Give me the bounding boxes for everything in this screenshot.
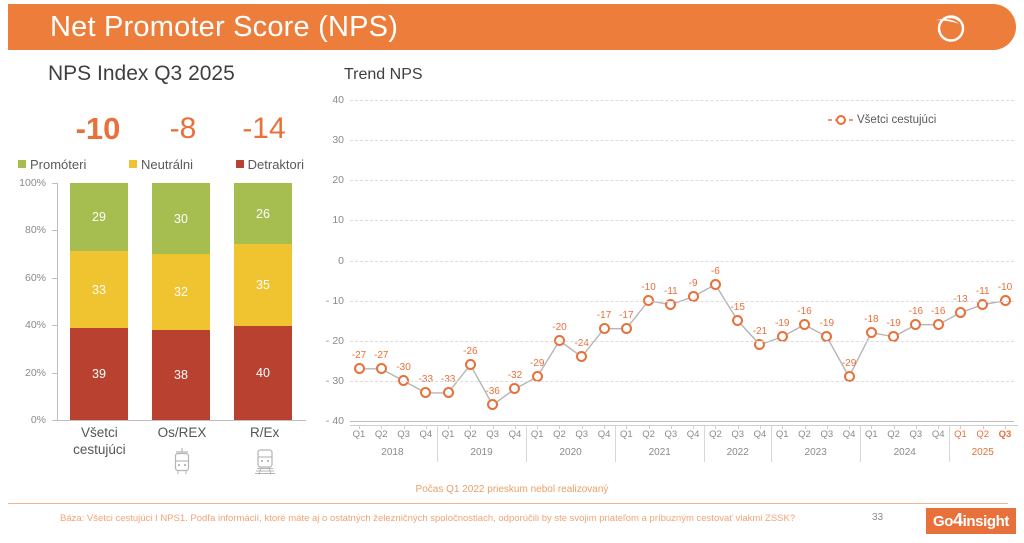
trend-x-quarter-label: Q4 [509, 429, 522, 440]
trend-year-separator [526, 426, 527, 462]
trend-year-separator [949, 426, 950, 462]
stacked-bar-segment[interactable]: 39 [70, 328, 128, 420]
trend-x-quarter-label: Q3 [999, 429, 1012, 440]
trend-x-quarter-label: Q3 [820, 429, 833, 440]
trend-data-point[interactable] [354, 363, 365, 374]
trend-y-tick-label: 10 [318, 214, 344, 226]
legend-label-neutrals: Neutrálni [141, 157, 193, 172]
bar-y-tick-label: 20% [25, 367, 46, 379]
nps-breakdown-stacked-chart: 100%80%60%40%20%0% 293339303238263540 [14, 183, 306, 421]
trend-data-label: -10 [641, 282, 655, 293]
trend-data-label: -17 [619, 310, 633, 321]
stacked-bar-segment[interactable]: 35 [234, 244, 292, 326]
legend-label-detractors: Detraktori [248, 157, 304, 172]
trend-y-tick-label: - 40 [318, 415, 344, 427]
legend-swatch-detractors [236, 160, 244, 168]
bar-y-tick-mark [52, 230, 57, 231]
trend-y-tick-label: 30 [318, 134, 344, 146]
trend-x-tick-mark [559, 425, 560, 429]
trend-data-point[interactable] [621, 323, 632, 334]
bar-category-label-rex: R/Ex [225, 424, 305, 441]
trend-y-tick-label: - 20 [318, 335, 344, 347]
trend-data-point[interactable] [710, 279, 721, 290]
trend-year-separator [615, 426, 616, 462]
legend-swatch-promoters [18, 160, 26, 168]
trend-x-tick-mark [537, 425, 538, 429]
trend-data-label: -27 [374, 350, 388, 361]
stacked-bar-column[interactable]: 263540 [234, 183, 292, 420]
trend-x-tick-mark [359, 425, 360, 429]
trend-data-label: -26 [463, 346, 477, 357]
trend-x-tick-mark [827, 425, 828, 429]
trend-data-point[interactable] [866, 327, 877, 338]
bar-y-tick-label: 80% [25, 224, 46, 236]
bar-chart-legend: Promóteri Neutrálni Detraktori [18, 155, 304, 173]
trend-data-label: -11 [664, 286, 678, 297]
trend-gridline [350, 421, 1014, 422]
bar-category-rex: R/Ex [225, 424, 305, 508]
trend-data-label: -36 [485, 386, 499, 397]
bar-y-tick-label: 100% [19, 177, 46, 189]
trend-x-quarter-label: Q4 [932, 429, 945, 440]
bar-y-tick-mark [52, 373, 57, 374]
trend-x-quarter-label: Q1 [865, 429, 878, 440]
trend-x-quarter-label: Q2 [798, 429, 811, 440]
trend-data-point[interactable] [443, 387, 454, 398]
legend-item-neutrals: Neutrálni [129, 157, 193, 172]
trend-data-label: -33 [419, 374, 433, 385]
trend-x-tick-mark [738, 425, 739, 429]
trend-x-tick-mark [448, 425, 449, 429]
trend-x-year-label: 2024 [894, 447, 916, 458]
trend-x-tick-mark [671, 425, 672, 429]
bar-category-all: Všetci cestujúci [59, 424, 139, 508]
trend-x-tick-mark [626, 425, 627, 429]
trend-x-quarter-label: Q3 [486, 429, 499, 440]
trend-gridline [350, 220, 1014, 221]
trend-x-quarter-label: Q2 [375, 429, 388, 440]
trend-data-label: -33 [441, 374, 455, 385]
trend-gridline [350, 100, 1014, 101]
trend-data-label: -29 [530, 358, 544, 369]
trend-data-label: -21 [753, 326, 767, 337]
trend-data-label: -27 [352, 350, 366, 361]
trend-x-quarter-label: Q4 [598, 429, 611, 440]
trend-x-quarter-label: Q3 [910, 429, 923, 440]
page-number: 33 [872, 512, 883, 523]
trend-data-label: -32 [508, 370, 522, 381]
trend-data-label: -17 [597, 310, 611, 321]
bar-chart-plot-area: 293339303238263540 [58, 183, 304, 420]
trend-data-label: -19 [820, 318, 834, 329]
trend-y-tick-label: - 30 [318, 375, 344, 387]
page-header: Net Promoter Score (NPS) [8, 4, 1016, 50]
nps-trend-chart: Všetci cestujúci -27-27-30-33-33-26-36-3… [318, 88, 1018, 433]
trend-x-year-label: 2019 [470, 447, 492, 458]
trend-x-tick-mark [849, 425, 850, 429]
trend-data-label: -20 [552, 322, 566, 333]
trend-x-year-label: 2023 [805, 447, 827, 458]
trend-x-quarter-label: Q3 [665, 429, 678, 440]
trend-x-tick-mark [404, 425, 405, 429]
trend-x-quarter-label: Q1 [442, 429, 455, 440]
trend-y-tick-label: 0 [318, 255, 344, 267]
trend-x-quarter-label: Q2 [642, 429, 655, 440]
logo-suffix: insight [963, 513, 1009, 530]
trend-x-quarter-label: Q1 [531, 429, 544, 440]
bar-y-tick-label: 40% [25, 319, 46, 331]
logo-prefix: Go [933, 513, 953, 530]
trend-chart-title: Trend NPS [344, 66, 423, 84]
trend-x-quarter-label: Q4 [754, 429, 767, 440]
trend-data-label: -15 [730, 302, 744, 313]
left-chart-title: NPS Index Q3 2025 [48, 62, 235, 86]
footer-divider [8, 503, 1008, 504]
trend-x-axis-line [350, 425, 1018, 426]
trend-x-year-label: 2021 [649, 447, 671, 458]
trend-x-quarter-label: Q2 [464, 429, 477, 440]
trend-data-label: -11 [976, 286, 990, 297]
trend-year-separator [860, 426, 861, 462]
trend-x-tick-mark [470, 425, 471, 429]
trend-data-label: -13 [953, 294, 967, 305]
stacked-bar-segment[interactable]: 38 [152, 330, 210, 420]
stacked-bar-segment[interactable]: 30 [152, 183, 210, 254]
trend-x-quarter-label: Q4 [687, 429, 700, 440]
bar-y-tick-label: 0% [31, 414, 46, 426]
page-title: Net Promoter Score (NPS) [50, 11, 398, 44]
trend-x-quarter-label: Q4 [843, 429, 856, 440]
trend-x-tick-mark [760, 425, 761, 429]
trend-y-tick-label: 40 [318, 94, 344, 106]
trend-data-label: -6 [711, 266, 720, 277]
trend-data-label: -29 [842, 358, 856, 369]
trend-data-label: -10 [998, 282, 1012, 293]
trend-x-tick-mark [515, 425, 516, 429]
trend-x-tick-mark [649, 425, 650, 429]
go4insight-circle-logo-icon [934, 10, 968, 44]
bar-category-osrex: Os/REX [142, 424, 222, 508]
trend-x-year-label: 2020 [559, 447, 581, 458]
nps-index-values: -10 -8 -14 [22, 110, 302, 148]
trend-x-quarter-label: Q4 [419, 429, 432, 440]
trend-x-tick-mark [604, 425, 605, 429]
trend-data-label: -19 [775, 318, 789, 329]
trend-x-tick-mark [805, 425, 806, 429]
trend-y-tick-label: 20 [318, 174, 344, 186]
trend-x-quarter-label: Q2 [553, 429, 566, 440]
bar-category-label-all: Všetci cestujúci [59, 424, 139, 458]
legend-item-detractors: Detraktori [236, 157, 304, 172]
trend-x-quarter-label: Q2 [976, 429, 989, 440]
trend-data-label: -16 [909, 306, 923, 317]
bar-y-tick-mark [52, 278, 57, 279]
stacked-bar-column[interactable]: 303238 [152, 183, 210, 420]
trend-x-quarter-label: Q2 [709, 429, 722, 440]
trend-x-quarter-label: Q3 [731, 429, 744, 440]
bar-y-tick-label: 60% [25, 272, 46, 284]
bar-chart-category-labels: Všetci cestujúci Os/REX R/Ex [58, 424, 306, 508]
tram-icon [142, 447, 222, 477]
trend-gridline [350, 301, 1014, 302]
trend-year-separator [704, 426, 705, 462]
trend-gridline [350, 140, 1014, 141]
trend-data-label: -30 [396, 362, 410, 373]
trend-x-quarter-label: Q2 [887, 429, 900, 440]
trend-x-tick-mark [693, 425, 694, 429]
nps-index-value-osrex: -8 [150, 110, 216, 148]
bar-chart-y-axis: 100%80%60%40%20%0% [14, 183, 52, 421]
stacked-bar-column[interactable]: 293339 [70, 183, 128, 420]
trend-year-separator [437, 426, 438, 462]
stacked-bar-segment[interactable]: 32 [152, 254, 210, 330]
logo-digit: 4 [953, 510, 963, 530]
trend-y-tick-label: - 10 [318, 295, 344, 307]
bar-category-label-osrex: Os/REX [142, 424, 222, 441]
stacked-bar-segment[interactable]: 40 [234, 326, 292, 420]
trend-x-tick-mark [916, 425, 917, 429]
trend-data-label: -18 [864, 314, 878, 325]
trend-x-tick-mark [381, 425, 382, 429]
train-icon [225, 447, 305, 477]
chart-footnote: Počas Q1 2022 prieskum nebol realizovaný [0, 484, 1024, 495]
trend-x-tick-mark [894, 425, 895, 429]
trend-gridline [350, 341, 1014, 342]
trend-gridline [350, 381, 1014, 382]
trend-x-tick-mark [983, 425, 984, 429]
trend-gridline [350, 261, 1014, 262]
nps-index-value-rex: -14 [226, 110, 302, 148]
trend-x-year-label: 2018 [381, 447, 403, 458]
trend-x-tick-mark [582, 425, 583, 429]
trend-year-separator [771, 426, 772, 462]
trend-data-point[interactable] [933, 319, 944, 330]
trend-x-quarter-label: Q3 [397, 429, 410, 440]
legend-item-promoters: Promóteri [18, 157, 86, 172]
trend-x-year-label: 2025 [972, 447, 994, 458]
footer-base-text: Báza: Všetci cestujúci I NPS1. Podľa inf… [60, 512, 860, 525]
bar-y-tick-mark [52, 183, 57, 184]
bar-y-tick-mark [52, 325, 57, 326]
trend-data-label: -24 [575, 338, 589, 349]
trend-data-label: -16 [931, 306, 945, 317]
trend-x-quarter-label: Q1 [353, 429, 366, 440]
stacked-bar-segment[interactable]: 26 [234, 183, 292, 244]
trend-x-tick-mark [960, 425, 961, 429]
trend-x-tick-mark [715, 425, 716, 429]
go4insight-wordmark-logo: Go4insight [926, 508, 1016, 534]
trend-x-tick-mark [426, 425, 427, 429]
trend-x-tick-mark [871, 425, 872, 429]
trend-gridline [350, 180, 1014, 181]
trend-x-year-label: 2022 [727, 447, 749, 458]
legend-swatch-neutrals [129, 160, 137, 168]
trend-x-tick-mark [938, 425, 939, 429]
trend-data-point[interactable] [599, 323, 610, 334]
trend-x-quarter-label: Q3 [575, 429, 588, 440]
trend-x-quarter-label: Q1 [776, 429, 789, 440]
trend-x-tick-mark [782, 425, 783, 429]
trend-x-tick-mark [1005, 425, 1006, 429]
trend-x-tick-mark [493, 425, 494, 429]
trend-data-label: -9 [689, 278, 698, 289]
nps-index-value-all: -10 [60, 110, 136, 148]
trend-x-axis: Q1Q2Q3Q42018Q1Q2Q3Q42019Q1Q2Q3Q42020Q1Q2… [350, 425, 1018, 477]
bar-y-tick-mark [52, 420, 57, 421]
bar-chart-x-axis-line [57, 420, 306, 421]
legend-label-promoters: Promóteri [30, 157, 86, 172]
trend-data-label: -19 [886, 318, 900, 329]
trend-x-quarter-label: Q1 [954, 429, 967, 440]
stacked-bar-segment[interactable]: 33 [70, 251, 128, 328]
trend-data-label: -16 [797, 306, 811, 317]
trend-x-quarter-label: Q1 [620, 429, 633, 440]
stacked-bar-segment[interactable]: 29 [70, 183, 128, 251]
